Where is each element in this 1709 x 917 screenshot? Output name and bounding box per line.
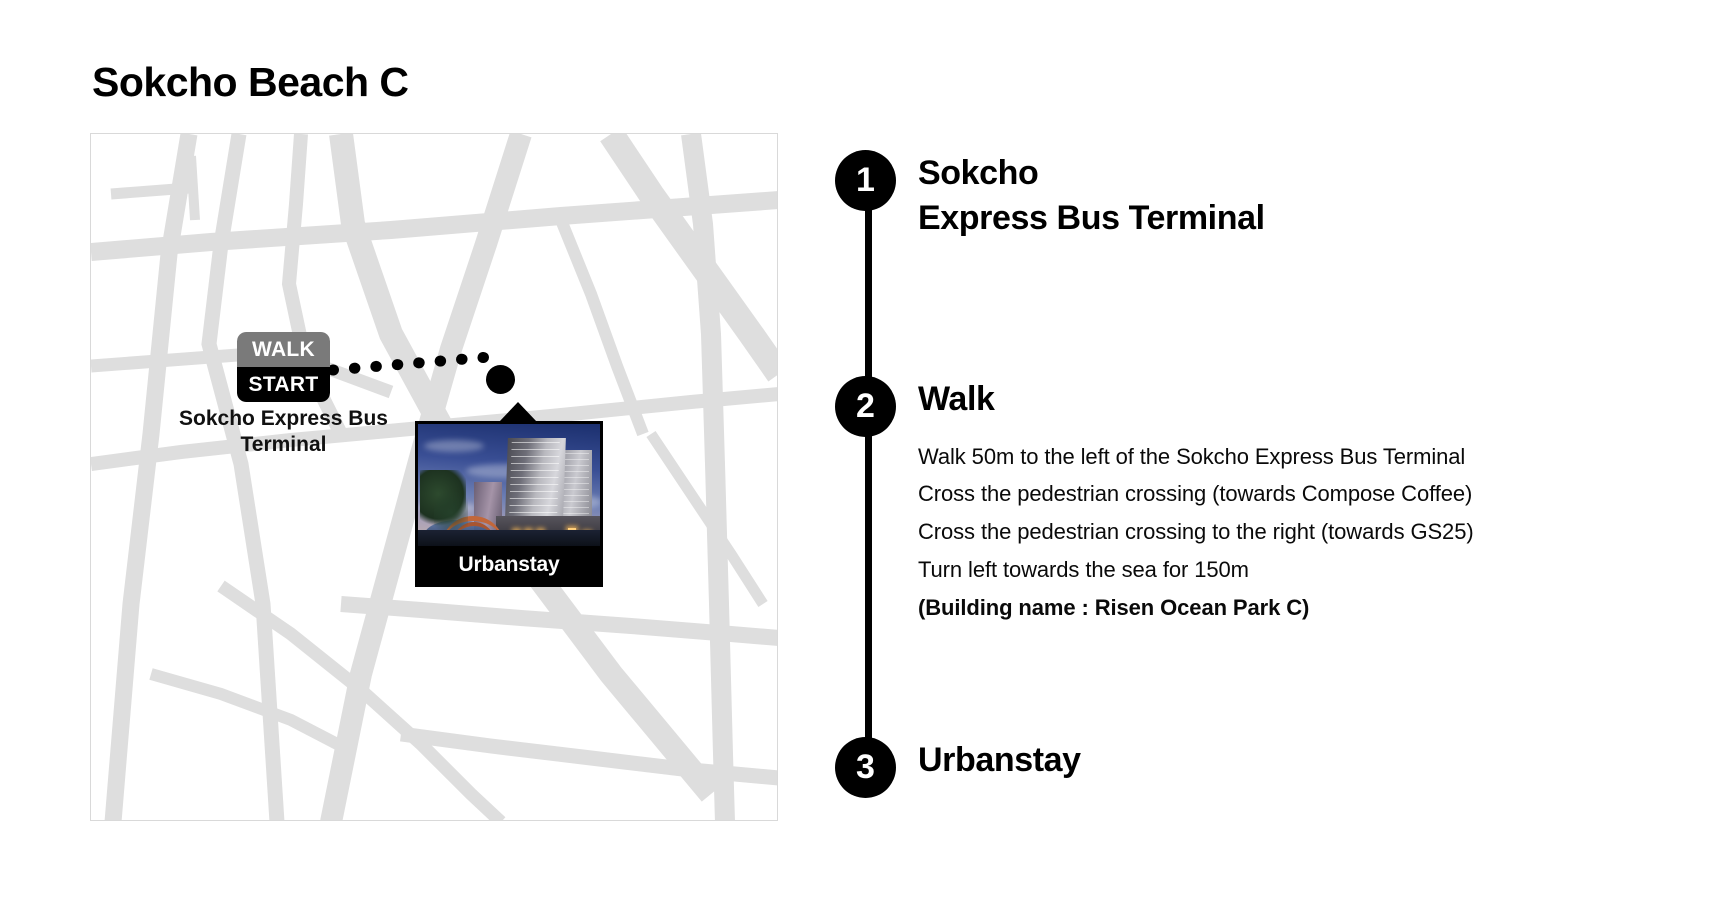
route-timeline: 1 Sokcho Express Bus Terminal 2 Walk Wal… — [835, 150, 1635, 798]
walk-start-badge: WALK START — [237, 332, 330, 402]
map-place-label: Sokcho Express Bus Terminal — [141, 406, 426, 459]
step-2-instruction-list: Walk 50m to the left of the Sokcho Expre… — [918, 438, 1474, 627]
instruction-line: Turn left towards the sea for 150m — [918, 551, 1474, 589]
map-panel: Sokcho Beach C — [90, 60, 780, 821]
start-badge: START — [237, 367, 330, 402]
photo-caption: Urbanstay — [418, 546, 600, 584]
timeline-step-2[interactable]: 2 Walk Walk 50m to the left of the Sokch… — [835, 376, 1635, 627]
step-1-marker: 1 — [835, 150, 896, 211]
step-3-marker: 3 — [835, 737, 896, 798]
timeline-step-3[interactable]: 3 Urbanstay — [835, 737, 1635, 798]
destination-photo-card[interactable]: Urbanstay — [415, 421, 603, 587]
page-title: Sokcho Beach C — [92, 60, 780, 105]
walk-badge: WALK — [237, 332, 330, 367]
timeline-step-1[interactable]: 1 Sokcho Express Bus Terminal — [835, 150, 1635, 241]
destination-dot-marker — [486, 365, 515, 394]
step-3-title: Urbanstay — [918, 738, 1081, 783]
map-canvas[interactable]: WALK START Sokcho Express Bus Terminal — [90, 133, 778, 821]
instruction-line: Walk 50m to the left of the Sokcho Expre… — [918, 438, 1474, 476]
instruction-line-building-name: (Building name : Risen Ocean Park C) — [918, 589, 1474, 627]
building-photo — [418, 424, 600, 546]
step-2-marker: 2 — [835, 376, 896, 437]
photo-pointer-triangle — [499, 402, 537, 422]
instruction-line: Cross the pedestrian crossing (towards C… — [918, 475, 1474, 513]
step-2-title: Walk — [918, 377, 1474, 422]
step-1-title: Sokcho Express Bus Terminal — [918, 151, 1265, 241]
instruction-line: Cross the pedestrian crossing to the rig… — [918, 513, 1474, 551]
